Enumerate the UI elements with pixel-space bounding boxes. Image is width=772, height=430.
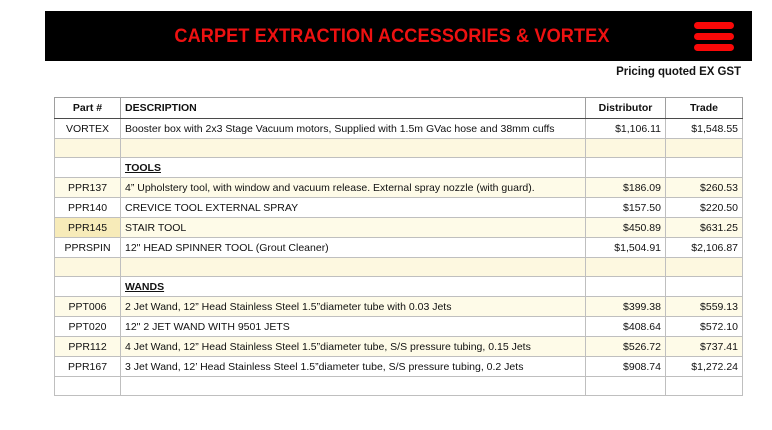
cell-description: CREVICE TOOL EXTERNAL SPRAY	[121, 198, 586, 218]
cell-part-number	[55, 277, 121, 297]
cell-trade-price: $220.50	[666, 198, 743, 218]
column-header-distributor: Distributor	[586, 98, 666, 119]
table-row[interactable]: PPR140CREVICE TOOL EXTERNAL SPRAY$157.50…	[55, 198, 743, 218]
table-row[interactable]: PPR145STAIR TOOL$450.89$631.25	[55, 218, 743, 238]
cell-trade-price: $1,548.55	[666, 119, 743, 139]
price-list-page: CARPET EXTRACTION ACCESSORIES & VORTEX P…	[0, 0, 772, 430]
table-row[interactable]: PPT02012" 2 JET WAND WITH 9501 JETS$408.…	[55, 317, 743, 337]
cell-description	[121, 139, 586, 158]
table-spacer-row	[55, 258, 743, 277]
page-header-banner: CARPET EXTRACTION ACCESSORIES & VORTEX	[45, 11, 752, 61]
hamburger-bar-3	[694, 44, 734, 51]
cell-distributor-price: $450.89	[586, 218, 666, 238]
cell-description	[121, 377, 586, 396]
cell-description: 4 Jet Wand, 12” Head Stainless Steel 1.5…	[121, 337, 586, 357]
cell-description: Booster box with 2x3 Stage Vacuum motors…	[121, 119, 586, 139]
cell-description: 3 Jet Wand, 12’ Head Stainless Steel 1.5…	[121, 357, 586, 377]
cell-description: 12" 2 JET WAND WITH 9501 JETS	[121, 317, 586, 337]
hamburger-bar-2	[694, 33, 734, 40]
cell-trade-price	[666, 139, 743, 158]
cell-part-number: PPT006	[55, 297, 121, 317]
cell-description: TOOLS	[121, 158, 586, 178]
cell-part-number: PPR112	[55, 337, 121, 357]
cell-trade-price: $559.13	[666, 297, 743, 317]
cell-part-number	[55, 139, 121, 158]
cell-distributor-price	[586, 158, 666, 178]
column-header-description: DESCRIPTION	[121, 98, 586, 119]
table-row[interactable]: PPRSPIN12" HEAD SPINNER TOOL (Grout Clea…	[55, 238, 743, 258]
table-row[interactable]: VORTEXBooster box with 2x3 Stage Vacuum …	[55, 119, 743, 139]
cell-trade-price	[666, 277, 743, 297]
cell-description: 4” Upholstery tool, with window and vacu…	[121, 178, 586, 198]
cell-trade-price: $2,106.87	[666, 238, 743, 258]
cell-distributor-price: $157.50	[586, 198, 666, 218]
pricing-caption: Pricing quoted EX GST	[616, 66, 741, 78]
cell-distributor-price	[586, 139, 666, 158]
table-body: VORTEXBooster box with 2x3 Stage Vacuum …	[55, 119, 743, 396]
cell-part-number: PPT020	[55, 317, 121, 337]
cell-distributor-price: $399.38	[586, 297, 666, 317]
column-header-part: Part #	[55, 98, 121, 119]
hamburger-bar-1	[694, 22, 734, 29]
page-title: CARPET EXTRACTION ACCESSORIES & VORTEX	[174, 25, 609, 48]
cell-description: 12" HEAD SPINNER TOOL (Grout Cleaner)	[121, 238, 586, 258]
cell-part-number: PPR145	[55, 218, 121, 238]
cell-trade-price: $631.25	[666, 218, 743, 238]
table-spacer-row	[55, 139, 743, 158]
cell-part-number	[55, 158, 121, 178]
table-row[interactable]: PPR1374” Upholstery tool, with window an…	[55, 178, 743, 198]
cell-part-number: PPR167	[55, 357, 121, 377]
cell-description: STAIR TOOL	[121, 218, 586, 238]
cell-distributor-price: $186.09	[586, 178, 666, 198]
cell-part-number	[55, 377, 121, 396]
section-title: TOOLS	[125, 162, 161, 174]
cell-distributor-price: $1,504.91	[586, 238, 666, 258]
cell-distributor-price	[586, 377, 666, 396]
cell-part-number: VORTEX	[55, 119, 121, 139]
cell-part-number: PPR140	[55, 198, 121, 218]
cell-distributor-price: $908.74	[586, 357, 666, 377]
cell-trade-price: $260.53	[666, 178, 743, 198]
price-table: Part # DESCRIPTION Distributor Trade VOR…	[54, 97, 743, 396]
cell-description: WANDS	[121, 277, 586, 297]
cell-distributor-price	[586, 277, 666, 297]
cell-trade-price: $1,272.24	[666, 357, 743, 377]
column-header-trade: Trade	[666, 98, 743, 119]
table-row[interactable]: PPT0062 Jet Wand, 12” Head Stainless Ste…	[55, 297, 743, 317]
table-header: Part # DESCRIPTION Distributor Trade	[55, 98, 743, 119]
cell-distributor-price: $1,106.11	[586, 119, 666, 139]
cell-trade-price	[666, 377, 743, 396]
cell-distributor-price	[586, 258, 666, 277]
cell-trade-price: $737.41	[666, 337, 743, 357]
hamburger-icon[interactable]	[694, 22, 734, 51]
table-section-row: WANDS	[55, 277, 743, 297]
table-row[interactable]: PPR1673 Jet Wand, 12’ Head Stainless Ste…	[55, 357, 743, 377]
cell-description	[121, 258, 586, 277]
table-spacer-row	[55, 377, 743, 396]
section-title: WANDS	[125, 281, 164, 293]
cell-distributor-price: $526.72	[586, 337, 666, 357]
cell-distributor-price: $408.64	[586, 317, 666, 337]
cell-trade-price	[666, 258, 743, 277]
cell-part-number	[55, 258, 121, 277]
table-row[interactable]: PPR1124 Jet Wand, 12” Head Stainless Ste…	[55, 337, 743, 357]
cell-trade-price	[666, 158, 743, 178]
table-header-row: Part # DESCRIPTION Distributor Trade	[55, 98, 743, 119]
cell-part-number: PPRSPIN	[55, 238, 121, 258]
cell-part-number: PPR137	[55, 178, 121, 198]
cell-trade-price: $572.10	[666, 317, 743, 337]
table-section-row: TOOLS	[55, 158, 743, 178]
cell-description: 2 Jet Wand, 12” Head Stainless Steel 1.5…	[121, 297, 586, 317]
